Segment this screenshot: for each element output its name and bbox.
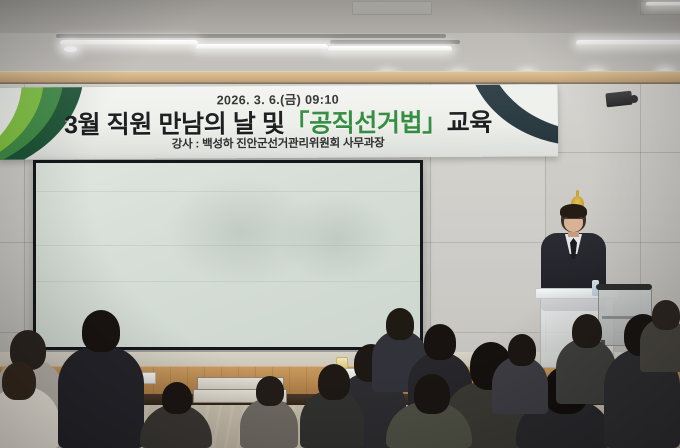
cart-handle [596, 284, 652, 290]
banner-subtitle: 강사 : 백성하 진안군선거관리위원회 사무과장 [0, 133, 558, 152]
attendee-head [162, 382, 192, 414]
attendee-head [508, 334, 536, 366]
ceiling-light-4 [576, 40, 680, 46]
attendee-head [256, 376, 284, 406]
wall-speaker-icon [605, 91, 632, 108]
glasses-icon [563, 218, 584, 224]
ceiling-light-1 [60, 40, 198, 46]
downlight-1 [64, 46, 77, 52]
ceiling-light-2 [196, 44, 328, 50]
attendee-head [82, 310, 120, 352]
ceiling-vent-1 [352, 1, 432, 15]
attendee-head [318, 364, 350, 400]
attendee-head [414, 374, 450, 414]
attendee-head [572, 314, 602, 348]
speaker-mount-bracket [630, 95, 638, 103]
presenter-hair [560, 204, 587, 218]
banner-title-part2: 교육 [447, 109, 492, 137]
ceiling-light-3 [328, 46, 452, 52]
attendee-head [2, 362, 36, 400]
light-housing-1 [56, 34, 446, 38]
ceiling-light-5 [646, 2, 680, 6]
attendee-head [424, 324, 456, 360]
presentation-hall-photo: 2026. 3. 6.(금) 09:10 3월 직원 만남의 날 및「공직선거법… [0, 0, 680, 448]
attendee-shoulders [58, 346, 144, 448]
attendee-head [386, 308, 414, 340]
attendee-head [652, 300, 680, 330]
ceiling-upper-band [0, 0, 680, 33]
screen-shadow-2 [276, 193, 396, 283]
light-housing-2 [330, 40, 460, 44]
ceiling [0, 0, 680, 72]
event-banner: 2026. 3. 6.(금) 09:10 3월 직원 만남의 날 및「공직선거법… [0, 84, 558, 159]
